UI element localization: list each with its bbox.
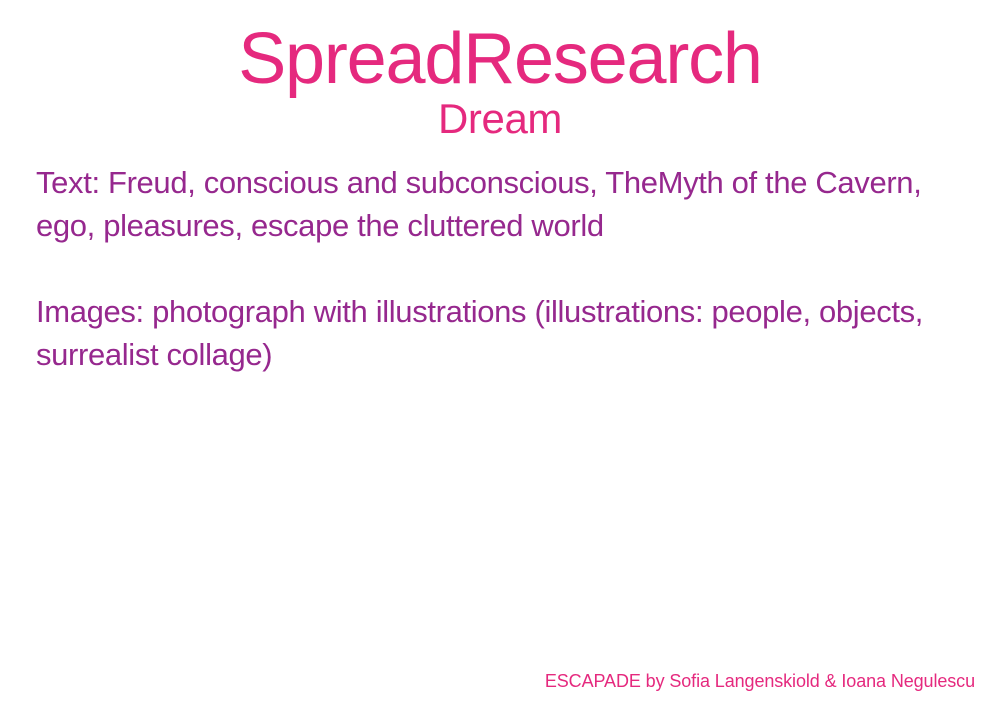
- slide-header: SpreadResearch Dream: [0, 18, 1000, 142]
- credit-line: ESCAPADE by Sofia Langenskiold & Ioana N…: [545, 671, 975, 691]
- slide-footer: ESCAPADE by Sofia Langenskiold & Ioana N…: [0, 669, 975, 693]
- slide-canvas: SpreadResearch Dream Text: Freud, consci…: [0, 0, 1000, 707]
- page-subtitle: Dream: [0, 96, 1000, 142]
- empty-layout-area: [36, 390, 966, 640]
- research-notes-block: Text: Freud, conscious and subconscious,…: [36, 161, 936, 376]
- research-note-text: Text: Freud, conscious and subconscious,…: [36, 161, 936, 247]
- research-note-images: Images: photograph with illustrations (i…: [36, 290, 936, 376]
- page-title: SpreadResearch: [0, 18, 1000, 100]
